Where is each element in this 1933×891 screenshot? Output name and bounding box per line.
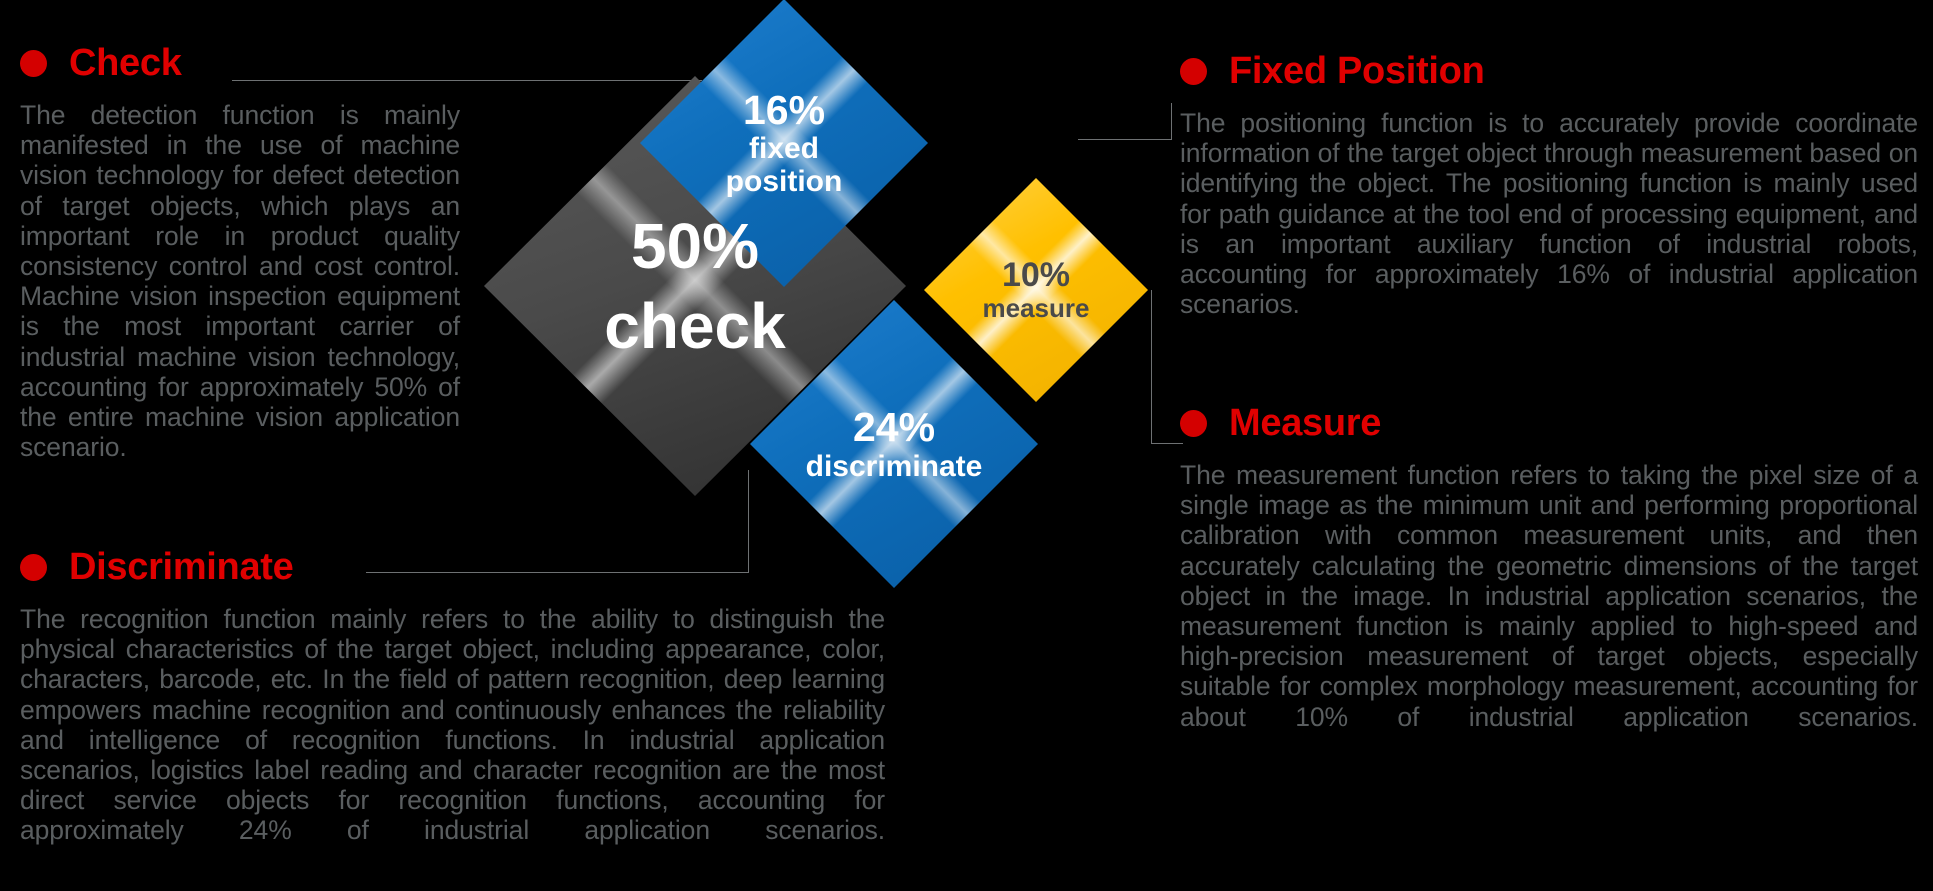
section-check: Check The detection function is mainly m… [20, 44, 460, 493]
section-measure-header: Measure [1180, 404, 1918, 444]
bullet-icon [20, 554, 47, 581]
connector-measure-horizontal [1151, 443, 1183, 444]
diamond-measure-label: measure [983, 294, 1090, 323]
connector-fixed-position-horizontal [1078, 139, 1172, 140]
section-discriminate-title: Discriminate [69, 548, 294, 588]
bullet-icon [1180, 410, 1207, 437]
diamond-fixed-position-label-line1: fixed [749, 132, 819, 165]
section-discriminate: Discriminate The recognition function ma… [20, 548, 885, 876]
section-check-body: The detection function is mainly manifes… [20, 100, 460, 493]
diamond-discriminate[interactable]: 24% discriminate [750, 300, 1038, 588]
section-check-header: Check [20, 44, 460, 84]
diamond-measure-percent: 10% [1002, 257, 1070, 294]
section-measure: Measure The measurement function refers … [1180, 404, 1918, 762]
section-fixed-position-body: The positioning function is to accuratel… [1180, 108, 1918, 350]
connector-fixed-position-vertical [1171, 103, 1172, 140]
infographic-canvas: 50% check 16% fixed position 10% measure… [0, 0, 1933, 891]
section-measure-body: The measurement function refers to takin… [1180, 460, 1918, 762]
diamond-discriminate-label: discriminate [806, 450, 983, 483]
section-discriminate-body: The recognition function mainly refers t… [20, 604, 885, 876]
bullet-icon [20, 50, 47, 77]
section-measure-title: Measure [1229, 404, 1381, 444]
bullet-icon [1180, 58, 1207, 85]
diamond-fixed-position-percent: 16% [743, 88, 825, 132]
connector-measure-vertical [1151, 290, 1152, 444]
diamond-check-label: check [604, 294, 785, 358]
section-fixed-position-header: Fixed Position [1180, 52, 1918, 92]
diamond-check-percent: 50% [631, 214, 759, 278]
section-fixed-position: Fixed Position The positioning function … [1180, 52, 1918, 350]
diamond-fixed-position-label-line2: position [726, 165, 843, 198]
section-check-title: Check [69, 44, 182, 84]
diamond-discriminate-percent: 24% [853, 405, 935, 449]
section-discriminate-header: Discriminate [20, 548, 885, 588]
section-fixed-position-title: Fixed Position [1229, 52, 1485, 92]
